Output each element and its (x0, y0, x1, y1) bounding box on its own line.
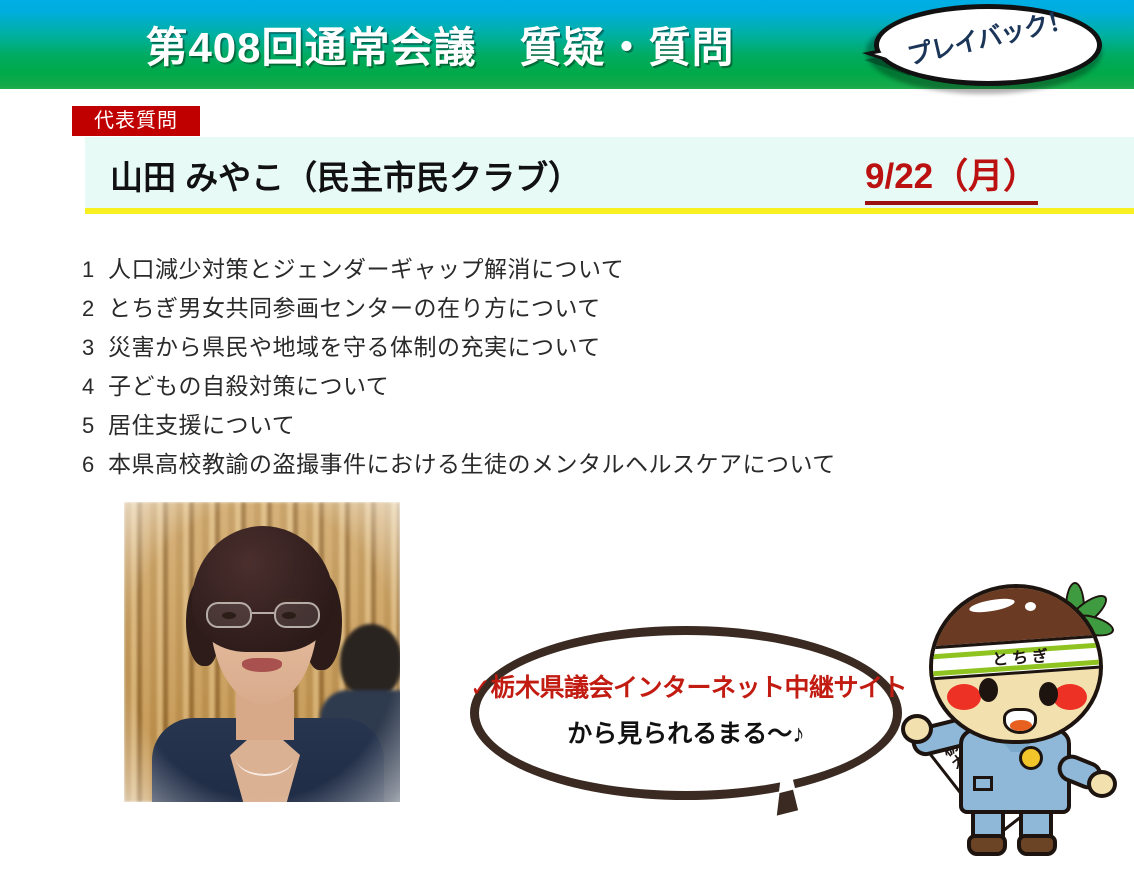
playback-bubble: プレイバック！ (862, 2, 1112, 100)
photo-mouth (242, 658, 282, 672)
status-badge: 代表質問 (72, 106, 200, 136)
list-item: 6 本県高校教諭の盗撮事件における生徒のメンタルヘルスケアについて (82, 445, 1042, 484)
mascot-mouth (1003, 708, 1037, 734)
list-item-number: 6 (82, 446, 108, 484)
mascot-cheek-right (1053, 684, 1087, 710)
mascot-bubble-line1: ✓栃木県議会インターネット中継サイト (470, 668, 902, 704)
list-item: 2 とちぎ男女共同参画センターの在り方について (82, 289, 1042, 328)
list-item-label: 災害から県民や地域を守る体制の充実について (108, 328, 601, 366)
mascot-shoe-left (967, 834, 1007, 856)
photo-eye-left (222, 612, 236, 619)
question-list: 1 人口減少対策とジェンダーギャップ解消について 2 とちぎ男女共同参画センター… (82, 250, 1042, 484)
slide-root: 第408回通常会議 質疑・質問 プレイバック！ 代表質問 山田 みやこ（民主市民… (0, 0, 1134, 869)
mascot-bubble-body (470, 626, 902, 800)
list-item-number: 3 (82, 329, 108, 367)
mascot-head: とちぎ (929, 584, 1103, 744)
glasses-bridge (252, 612, 274, 614)
list-item: 1 人口減少対策とジェンダーギャップ解消について (82, 250, 1042, 289)
mascot-cheek-left (947, 684, 981, 710)
list-item: 5 居住支援について (82, 406, 1042, 445)
mascot-speech-bubble: ✓栃木県議会インターネット中継サイト から見られるまる〜♪ (470, 626, 902, 812)
mascot-eye-left (979, 678, 998, 702)
mascot-headband-label: とちぎ (929, 641, 1103, 676)
list-item-number: 4 (82, 368, 108, 406)
mascot-hand-right (1087, 770, 1117, 798)
list-item: 4 子どもの自殺対策について (82, 367, 1042, 406)
mascot-character: 栃木県議会 とちぎ (915, 576, 1130, 861)
mascot-eye-right (1039, 682, 1058, 706)
list-item-number: 1 (82, 251, 108, 289)
photo-eye-right (282, 612, 296, 619)
speaker-photo (124, 502, 400, 802)
mascot-bubble-line2: から見られるまる〜♪ (470, 714, 902, 750)
mascot-pocket (973, 776, 993, 791)
list-item: 3 災害から県民や地域を守る体制の充実について (82, 328, 1042, 367)
page-title: 第408回通常会議 質疑・質問 (0, 0, 880, 89)
photo-necklace (236, 740, 294, 776)
photo-background-person-head (340, 624, 400, 698)
list-item-number: 2 (82, 290, 108, 328)
glasses-lens-right (274, 602, 320, 628)
list-item-label: 居住支援について (108, 406, 295, 444)
list-item-label: 子どもの自殺対策について (108, 367, 389, 405)
speaker-name: 山田 みやこ（民主市民クラブ） (110, 151, 581, 199)
mascot-tongue (1010, 720, 1032, 731)
divider-rule (85, 208, 1134, 214)
mascot-shoe-right (1017, 834, 1057, 856)
list-item-label: 本県高校教諭の盗撮事件における生徒のメンタルヘルスケアについて (108, 445, 836, 483)
list-item-label: とちぎ男女共同参画センターの在り方について (108, 289, 601, 327)
mascot-highlight-dot (1025, 602, 1036, 611)
session-date: 9/22（月） (865, 148, 1038, 205)
mascot-hand-left (901, 714, 933, 744)
list-item-label: 人口減少対策とジェンダーギャップ解消について (108, 250, 624, 288)
mascot-badge-icon (1019, 746, 1043, 770)
list-item-number: 5 (82, 407, 108, 445)
speaker-band: 山田 みやこ（民主市民クラブ） 9/22（月） (85, 137, 1134, 212)
